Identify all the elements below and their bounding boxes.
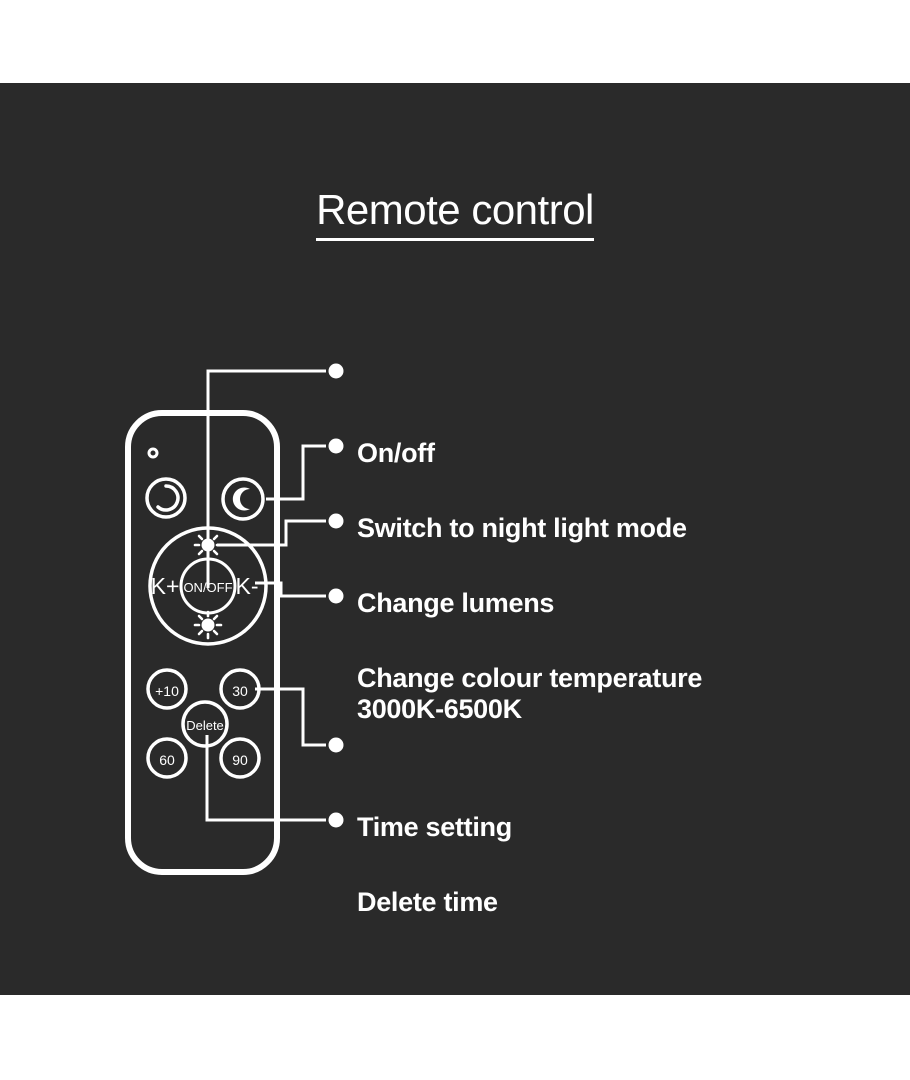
kelvin-up-label: K+	[151, 573, 180, 599]
screenshot-root: Remote control	[0, 0, 910, 1080]
brightness-down-sun-icon	[195, 612, 221, 638]
moon-icon	[233, 488, 250, 511]
mode-button-inner-ring	[158, 486, 178, 510]
timer-90-label: 90	[232, 752, 248, 768]
bullet-on-off	[329, 364, 344, 379]
callout-colour-temperature: Change colour temperature 3000K-6500K	[357, 663, 702, 725]
callout-night-light-mode: Switch to night light mode	[357, 513, 687, 544]
bullet-change-lumens	[329, 514, 344, 529]
callout-time-setting: Time setting	[357, 812, 512, 843]
connector-on-off	[208, 371, 326, 588]
connector-time-setting	[255, 689, 326, 745]
bullet-time-setting	[329, 738, 344, 753]
bullet-colour-temperature	[329, 589, 344, 604]
timer-30-label: 30	[232, 683, 248, 699]
night-mode-button	[223, 479, 263, 519]
brightness-up-sun-icon	[195, 532, 221, 558]
ir-led-dot	[149, 449, 157, 457]
callout-on-off: On/off	[357, 438, 435, 469]
bullet-night-light-mode	[329, 439, 344, 454]
callout-delete-time: Delete time	[357, 887, 498, 918]
power-button-label: ON/OFF	[183, 580, 232, 595]
callout-change-lumens: Change lumens	[357, 588, 554, 619]
timer-plus10-label: +10	[155, 683, 179, 699]
delete-button-label: Delete	[186, 718, 224, 733]
dark-panel: Remote control	[0, 83, 910, 995]
bullet-delete-time	[329, 813, 344, 828]
timer-60-label: 60	[159, 752, 175, 768]
kelvin-down-label: K-	[236, 573, 259, 599]
